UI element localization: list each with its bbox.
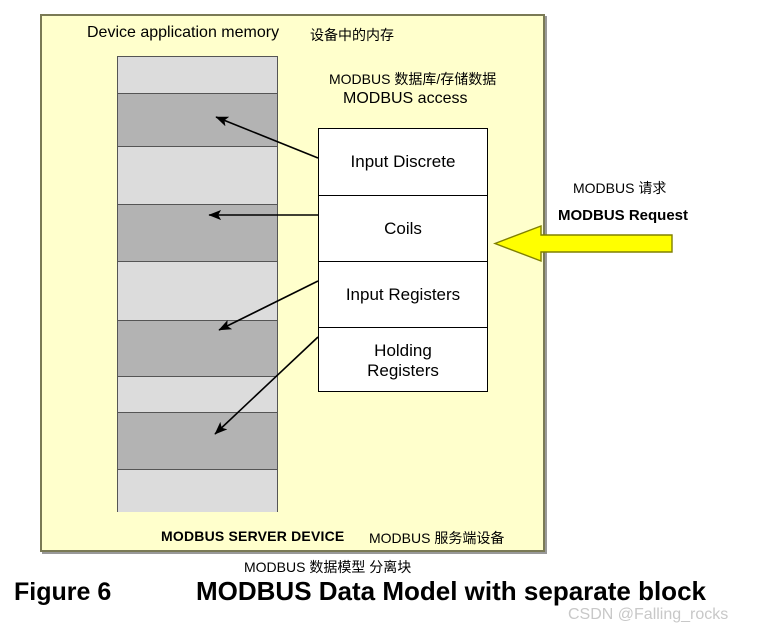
modbus-request-label: MODBUS Request (558, 207, 688, 224)
modbus-request-label-cn: MODBUS 请求 (573, 180, 666, 196)
figure-number-label: Figure 6 (14, 578, 111, 607)
device-application-memory-label: Device application memory (87, 24, 279, 42)
modbus-server-device-footer: MODBUS SERVER DEVICE (161, 528, 344, 544)
figure-title: MODBUS Data Model with separate block (196, 576, 706, 607)
memory-block-8-light (118, 470, 277, 512)
modbus-table-row-input-registers[interactable]: Input Registers (319, 261, 487, 327)
memory-block-7-dark (118, 412, 277, 470)
modbus-table-row-coils[interactable]: Coils (319, 195, 487, 261)
memory-block-3-dark (118, 204, 277, 262)
watermark-label: CSDN @Falling_rocks (568, 606, 728, 624)
figure-canvas: Device application memory 设备中的内存 MODBUS … (0, 0, 760, 635)
memory-block-4-light (118, 262, 277, 320)
modbus-table-row-label: Input Registers (346, 285, 460, 305)
modbus-server-device-footer-cn: MODBUS 服务端设备 (369, 530, 504, 546)
modbus-table-row-input-discrete[interactable]: Input Discrete (319, 129, 487, 195)
memory-block-0-light (118, 57, 277, 93)
modbus-access-label: MODBUS access (343, 90, 467, 108)
modbus-table-row-label: HoldingRegisters (367, 341, 439, 380)
device-application-memory-label-cn: 设备中的内存 (310, 27, 394, 43)
modbus-table-row-label: Coils (384, 219, 422, 239)
memory-block-1-dark (118, 93, 277, 147)
memory-block-6-light (118, 377, 277, 412)
memory-block-2-light (118, 147, 277, 204)
modbus-table-row-label: Input Discrete (351, 152, 456, 172)
modbus-data-table: Input DiscreteCoilsInput RegistersHoldin… (318, 128, 488, 392)
device-memory-column (117, 56, 278, 512)
modbus-access-label-cn: MODBUS 数据库/存储数据 (329, 71, 496, 87)
memory-block-5-dark (118, 320, 277, 377)
figure-caption-cn: MODBUS 数据模型 分离块 (244, 557, 411, 577)
modbus-table-row-holding-registers[interactable]: HoldingRegisters (319, 327, 487, 393)
